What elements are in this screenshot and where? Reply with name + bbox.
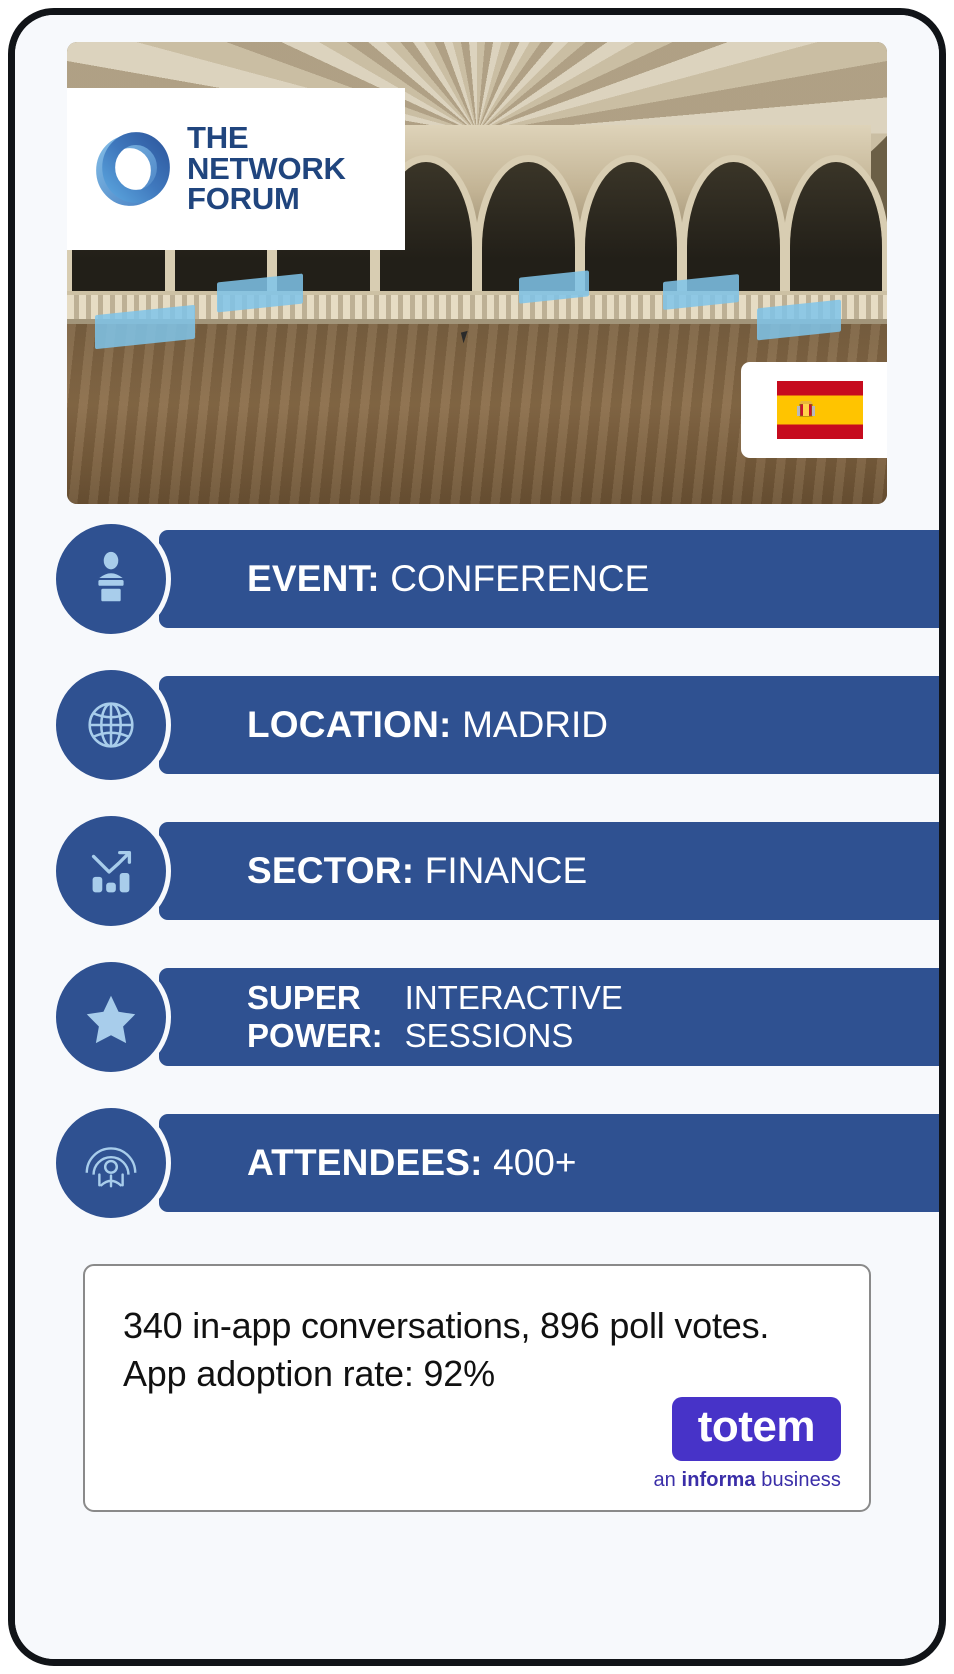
spain-coat-of-arms-icon (796, 398, 816, 422)
logo-line-2: NETWORK (187, 154, 346, 184)
superpower-label-line1: SUPER (247, 979, 383, 1017)
logo-line-3: FORUM (187, 184, 346, 214)
info-value-event: CONFERENCE (390, 558, 649, 599)
info-badge-event (51, 519, 171, 639)
info-row-location[interactable]: LOCATION: MADRID (47, 676, 907, 774)
totem-branding: totem an informa business (653, 1397, 841, 1492)
info-row-attendees[interactable]: ATTENDEES: 400+ (47, 1114, 907, 1212)
brand-logo-text: THE NETWORK FORUM (187, 123, 346, 214)
info-bar-location: LOCATION: MADRID (159, 676, 946, 774)
totem-logo: totem (672, 1397, 841, 1461)
globe-icon (80, 694, 142, 756)
bar-chart-growth-icon (80, 840, 142, 902)
info-text-sector: SECTOR: FINANCE (247, 851, 587, 891)
info-bar-superpower: SUPER POWER: INTERACTIVE SESSIONS (159, 968, 946, 1066)
info-value-superpower: INTERACTIVE SESSIONS (405, 979, 623, 1054)
tagline-prefix: an (653, 1469, 681, 1491)
superpower-value-line1: INTERACTIVE (405, 979, 623, 1017)
spain-flag-icon (777, 381, 863, 439)
info-label-event: EVENT: (247, 558, 390, 599)
info-text-location: LOCATION: MADRID (247, 705, 608, 745)
info-row-superpower[interactable]: SUPER POWER: INTERACTIVE SESSIONS (47, 968, 907, 1066)
info-bar-event: EVENT: CONFERENCE (159, 530, 946, 628)
info-text-event: EVENT: CONFERENCE (247, 559, 649, 599)
info-badge-superpower (51, 957, 171, 1077)
tagline-suffix: business (756, 1469, 841, 1491)
superpower-value-line2: SESSIONS (405, 1017, 623, 1055)
info-badge-sector (51, 811, 171, 931)
info-rows: EVENT: CONFERENCE LOC (47, 530, 907, 1212)
info-value-location: MADRID (462, 704, 608, 745)
info-label-superpower: SUPER POWER: (247, 979, 383, 1054)
ring-logo-icon (95, 131, 171, 207)
info-bar-attendees: ATTENDEES: 400+ (159, 1114, 946, 1212)
info-badge-location (51, 665, 171, 785)
info-label-sector: SECTOR: (247, 850, 425, 891)
info-label-attendees: ATTENDEES: (247, 1142, 493, 1183)
info-row-event[interactable]: EVENT: CONFERENCE (47, 530, 907, 628)
info-value-attendees: 400+ (493, 1142, 576, 1183)
info-label-location: LOCATION: (247, 704, 462, 745)
info-bar-sector: SECTOR: FINANCE (159, 822, 946, 920)
informa-tagline: an informa business (653, 1469, 841, 1492)
info-badge-attendees (51, 1103, 171, 1223)
phone-frame: THE NETWORK FORUM (8, 8, 946, 1666)
tagline-bold: informa (682, 1469, 756, 1491)
star-icon (80, 986, 142, 1048)
logo-line-1: THE (187, 123, 346, 153)
audience-people-icon (80, 1132, 142, 1194)
info-text-attendees: ATTENDEES: 400+ (247, 1143, 576, 1183)
stats-card: 340 in-app conversations, 896 poll votes… (83, 1264, 871, 1512)
superpower-label-line2: POWER: (247, 1017, 383, 1055)
podium-speaker-icon (80, 548, 142, 610)
info-value-sector: FINANCE (425, 850, 587, 891)
hero-image: THE NETWORK FORUM (67, 42, 887, 504)
brand-logo-card: THE NETWORK FORUM (67, 88, 405, 250)
country-flag-card (741, 362, 887, 458)
info-row-sector[interactable]: SECTOR: FINANCE (47, 822, 907, 920)
info-text-superpower: SUPER POWER: INTERACTIVE SESSIONS (247, 979, 623, 1054)
stats-text: 340 in-app conversations, 896 poll votes… (123, 1302, 831, 1397)
app-screen: THE NETWORK FORUM (15, 15, 939, 1659)
